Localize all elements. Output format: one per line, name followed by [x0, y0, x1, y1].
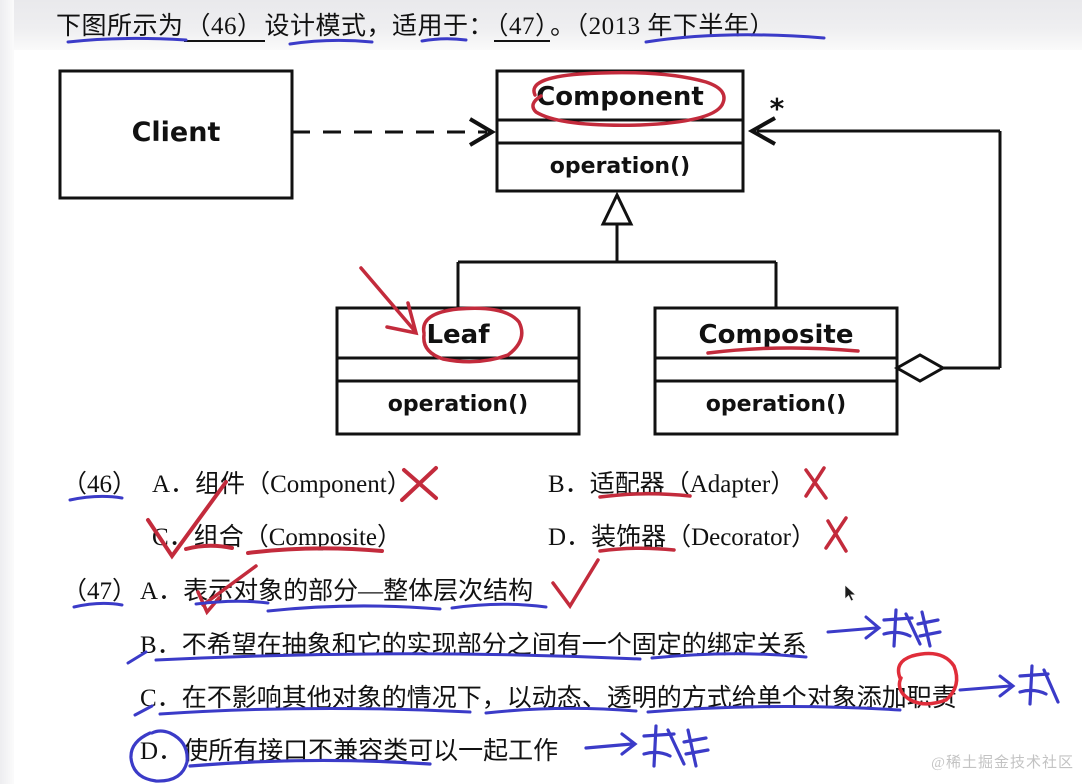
- ink-blue-arrowhead-47D: [622, 734, 635, 754]
- class-label-composite: Composite: [655, 320, 897, 350]
- question-number-47: （47）: [62, 571, 137, 607]
- header-blank-46: （46）: [184, 13, 265, 42]
- mouse-cursor: [845, 585, 859, 603]
- option-47-D-text: 使所有接口不兼容类可以一起工作: [183, 738, 558, 765]
- option-47-C-key: C．: [140, 685, 182, 712]
- ink-red-cross-46B-1: [806, 470, 826, 498]
- watermark: @稀土掘金技术社区: [931, 751, 1074, 772]
- class-label-leaf: Leaf: [337, 320, 579, 350]
- multiplicity-star: *: [760, 92, 794, 125]
- class-operation-component: operation(): [497, 154, 743, 179]
- page-root: 下图所示为（46）设计模式，适用于：（47）。（2013 年下半年） Compo…: [0, 0, 1082, 784]
- option-46-D-key: D．: [548, 524, 591, 551]
- class-operation-leaf: operation(): [337, 392, 579, 417]
- ink-blue-arrow-47B: [828, 628, 876, 632]
- option-47-D-key: D．: [140, 738, 183, 765]
- option-46-A[interactable]: A．组件（Component）: [152, 464, 412, 500]
- option-46-B-text: 适配器（Adapter）: [590, 471, 796, 498]
- ink-blue-note-47D: [644, 726, 708, 766]
- relation-generalization: [458, 195, 776, 308]
- option-47-B[interactable]: B．不希望在抽象和它的实现部分之间有一个固定的绑定关系: [140, 625, 807, 661]
- option-46-A-key: A．: [152, 471, 195, 498]
- relation-dependency-client-component: [292, 119, 492, 145]
- option-47-C-text: 在不影响其他对象的情况下，以动态、透明的方式给单个对象添加职责: [182, 685, 957, 712]
- option-47-B-text: 不希望在抽象和它的实现部分之间有一个固定的绑定关系: [182, 632, 807, 659]
- option-47-A-key: A．: [140, 578, 183, 605]
- option-46-C-key: C．: [152, 524, 194, 551]
- option-47-A-text: 表示对象的部分—整体层次结构: [183, 578, 533, 605]
- ink-red-cross-46B-2: [806, 468, 824, 496]
- header-part-4: 。（2013 年下半年）: [550, 13, 775, 40]
- option-46-B-key: B．: [548, 471, 590, 498]
- class-label-component: Component: [497, 82, 743, 112]
- ink-red-cross-46D-2: [826, 518, 846, 548]
- class-operation-composite: operation(): [655, 392, 897, 417]
- option-46-C[interactable]: C．组合（Composite）: [152, 517, 402, 553]
- ink-blue-note-47B: [884, 610, 940, 646]
- ink-red-cross-46D-1: [828, 521, 846, 551]
- question-number-46: （46）: [62, 464, 137, 500]
- option-46-C-text: 组合（Composite）: [194, 524, 402, 551]
- option-46-B[interactable]: B．适配器（Adapter）: [548, 464, 795, 500]
- header-part-2: 设计模式，适用于：: [265, 13, 495, 40]
- option-47-B-key: B．: [140, 632, 182, 659]
- option-47-A[interactable]: A．表示对象的部分—整体层次结构: [140, 571, 533, 607]
- option-46-D-text: 装饰器（Decorator）: [591, 524, 816, 551]
- ink-blue-arrow-47D: [586, 744, 632, 748]
- ink-blue-arrowhead-47C: [1000, 676, 1013, 696]
- header-part-0: 下图所示为: [56, 13, 184, 40]
- option-46-D[interactable]: D．装饰器（Decorator）: [548, 517, 816, 553]
- left-gradient-band: [0, 0, 14, 784]
- question-header: 下图所示为（46）设计模式，适用于：（47）。（2013 年下半年）: [56, 6, 775, 42]
- class-label-client: Client: [60, 117, 292, 148]
- ink-blue-note-47C: [1020, 666, 1058, 704]
- header-blank-47: （47）: [494, 13, 550, 42]
- ink-blue-arrowhead-47B: [866, 617, 879, 638]
- option-47-D[interactable]: D．使所有接口不兼容类可以一起工作: [140, 731, 558, 767]
- option-47-C[interactable]: C．在不影响其他对象的情况下，以动态、透明的方式给单个对象添加职责: [140, 678, 957, 714]
- ink-blue-arrow-47C: [960, 686, 1010, 690]
- option-46-A-text: 组件（Component）: [195, 471, 412, 498]
- ink-red-check-47A-big: [553, 560, 598, 606]
